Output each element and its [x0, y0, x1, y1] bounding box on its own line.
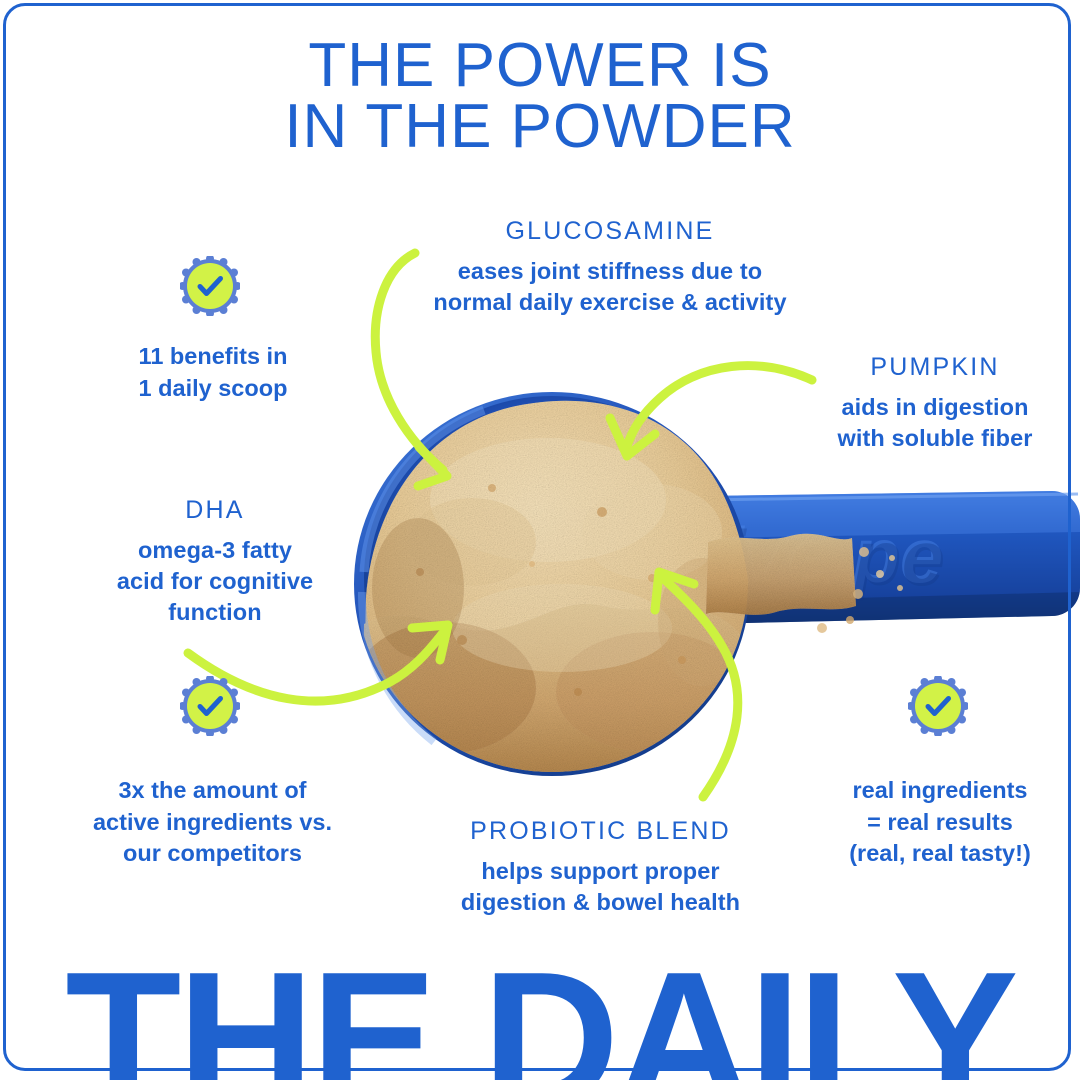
callout-body-dha: omega-3 fatty acid for cognitive functio… [75, 535, 355, 628]
callout-glucosamine: GLUCOSAMINE eases joint stiffness due to… [330, 216, 890, 318]
benefits-count-line-1: 11 benefits in [88, 341, 338, 373]
dha-line-2: acid for cognitive [75, 566, 355, 597]
real-ingredients-line-3: (real, real tasty!) [800, 838, 1080, 870]
benefit-text-benefits-count: 11 benefits in 1 daily scoop [88, 341, 338, 404]
glucosamine-line-1: eases joint stiffness due to [330, 256, 890, 287]
benefits-count-line-2: 1 daily scoop [88, 373, 338, 405]
page-title: THE POWER IS IN THE POWDER [0, 36, 1080, 158]
callout-probiotic-blend: PROBIOTIC BLEND helps support proper dig… [418, 816, 783, 918]
pumpkin-line-1: aids in digestion [790, 392, 1080, 423]
callout-body-probiotic: helps support proper digestion & bowel h… [418, 856, 783, 918]
callout-title-dha: DHA [75, 495, 355, 525]
check-starburst-icon-benefits [180, 256, 240, 316]
brand-wordmark: THE DAILY [0, 944, 1080, 1080]
callout-title-glucosamine: GLUCOSAMINE [330, 216, 890, 246]
headline-line-2: IN THE POWDER [0, 97, 1080, 158]
probiotic-line-2: digestion & bowel health [418, 887, 783, 918]
real-ingredients-line-2: = real results [800, 807, 1080, 839]
pumpkin-line-2: with soluble fiber [790, 423, 1080, 454]
benefit-text-real-ingredients: real ingredients = real results (real, r… [800, 775, 1080, 870]
callout-body-pumpkin: aids in digestion with soluble fiber [790, 392, 1080, 454]
probiotic-line-1: helps support proper [418, 856, 783, 887]
callout-title-probiotic: PROBIOTIC BLEND [418, 816, 783, 846]
dha-line-1: omega-3 fatty [75, 535, 355, 566]
poster-canvas: THE POWER IS IN THE POWDER [0, 0, 1080, 1080]
check-starburst-icon-real-ingredients [908, 676, 968, 736]
callout-dha: DHA omega-3 fatty acid for cognitive fun… [75, 495, 355, 628]
active-ingredients-line-1: 3x the amount of [60, 775, 365, 807]
active-ingredients-line-3: our competitors [60, 838, 365, 870]
callout-title-pumpkin: PUMPKIN [790, 352, 1080, 382]
callout-body-glucosamine: eases joint stiffness due to normal dail… [330, 256, 890, 318]
real-ingredients-line-1: real ingredients [800, 775, 1080, 807]
callout-pumpkin: PUMPKIN aids in digestion with soluble f… [790, 352, 1080, 454]
dha-line-3: function [75, 597, 355, 628]
glucosamine-line-2: normal daily exercise & activity [330, 287, 890, 318]
active-ingredients-line-2: active ingredients vs. [60, 807, 365, 839]
benefit-text-active-ingredients: 3x the amount of active ingredients vs. … [60, 775, 365, 870]
headline-line-1: THE POWER IS [0, 36, 1080, 97]
check-starburst-icon-active-ingredients [180, 676, 240, 736]
